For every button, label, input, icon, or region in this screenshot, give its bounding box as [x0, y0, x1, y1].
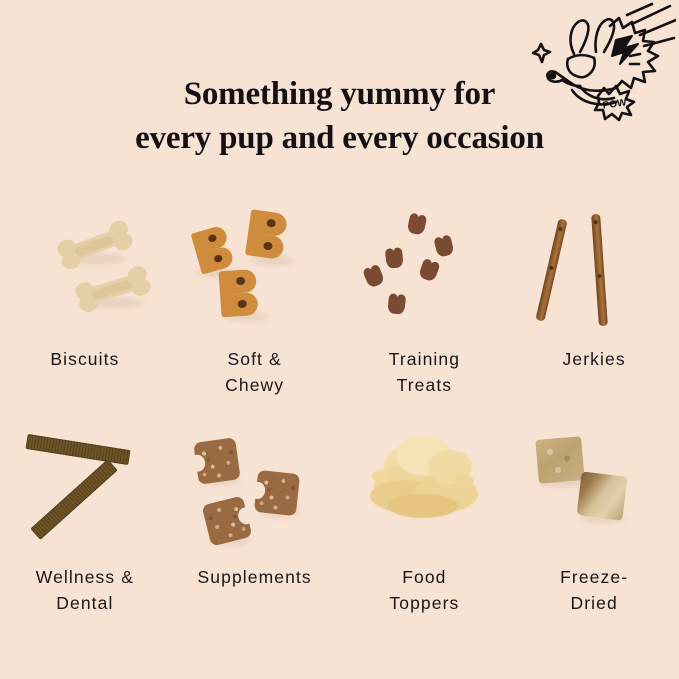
biscuits-art	[0, 196, 170, 346]
category-label-wellness-dental: Wellness & Dental	[0, 564, 170, 616]
category-label-training-treats: Training Treats	[340, 346, 510, 398]
wellness-dental-art	[0, 414, 170, 564]
training-treat	[406, 216, 426, 235]
training-treat	[363, 267, 385, 288]
supplement-chew	[254, 470, 300, 516]
category-tile-biscuits[interactable]: Biscuits	[0, 196, 170, 414]
category-label-soft-chewy: Soft & Chewy	[170, 346, 340, 398]
category-label-food-toppers: Food Toppers	[340, 564, 510, 616]
category-tile-wellness-dental[interactable]: Wellness & Dental	[0, 414, 170, 632]
chewy-treat	[218, 269, 263, 318]
training-treats-art	[340, 196, 510, 346]
chewy-treat	[245, 209, 293, 260]
category-tile-jerkies[interactable]: Jerkies	[509, 196, 679, 414]
category-tile-soft-chewy[interactable]: Soft & Chewy	[170, 196, 340, 414]
category-label-jerkies: Jerkies	[509, 346, 679, 372]
category-grid: Biscuits Soft & C	[0, 196, 679, 632]
headline-line-1: Something yummy for	[184, 76, 496, 112]
training-treat	[417, 262, 438, 283]
training-treat	[434, 238, 454, 258]
dental-chew-stick	[25, 434, 130, 465]
powder-pile	[370, 436, 482, 522]
supplement-chew	[193, 437, 240, 484]
freeze-dried-chunk	[535, 436, 585, 484]
soft-chewy-art	[170, 196, 340, 346]
training-treat	[385, 251, 404, 269]
training-treat	[387, 297, 406, 315]
category-label-supplements: Supplements	[170, 564, 340, 590]
chewy-treat	[190, 223, 239, 274]
dental-chew-stick	[30, 459, 117, 540]
jerky-stick	[591, 214, 608, 326]
category-tile-food-toppers[interactable]: Food Toppers	[340, 414, 510, 632]
super-dog-doodle: POW	[524, 2, 676, 124]
pow-burst-text: POW	[602, 97, 628, 111]
jerkies-art	[509, 196, 679, 346]
freeze-dried-art	[509, 414, 679, 564]
promo-banner: Something yummy for every pup and every …	[0, 0, 679, 679]
jerky-stick	[536, 218, 568, 321]
category-tile-supplements[interactable]: Supplements	[170, 414, 340, 632]
category-tile-training-treats[interactable]: Training Treats	[340, 196, 510, 414]
category-tile-freeze-dried[interactable]: Freeze- Dried	[509, 414, 679, 632]
category-label-biscuits: Biscuits	[0, 346, 170, 372]
supplements-art	[170, 414, 340, 564]
food-toppers-art	[340, 414, 510, 564]
freeze-dried-chunk	[577, 471, 628, 520]
category-label-freeze-dried: Freeze- Dried	[509, 564, 679, 616]
